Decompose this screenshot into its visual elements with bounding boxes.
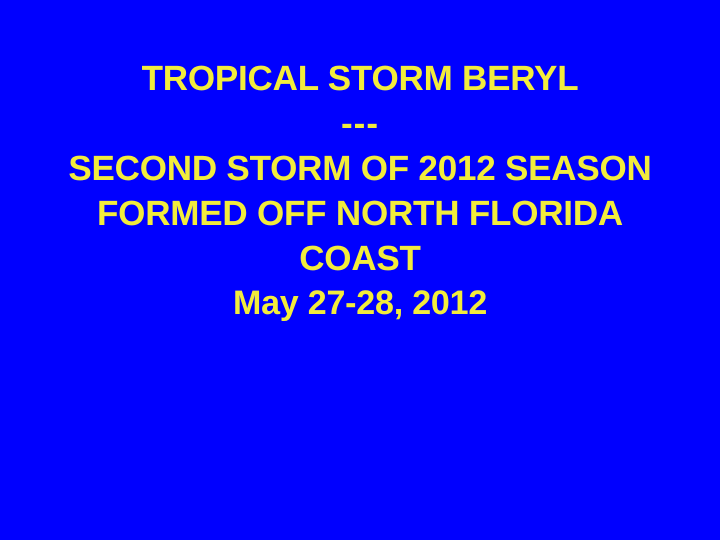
title-line-formation-location-cont: COAST (0, 236, 720, 281)
title-line-divider: --- (0, 101, 720, 146)
presentation-slide: TROPICAL STORM BERYL --- SECOND STORM OF… (0, 0, 720, 540)
title-line-date-range: May 27-28, 2012 (0, 281, 720, 326)
slide-title-block: TROPICAL STORM BERYL --- SECOND STORM OF… (0, 56, 720, 326)
title-line-season-order: SECOND STORM OF 2012 SEASON (0, 146, 720, 191)
title-line-formation-location: FORMED OFF NORTH FLORIDA (0, 191, 720, 236)
title-line-storm-name: TROPICAL STORM BERYL (0, 56, 720, 101)
